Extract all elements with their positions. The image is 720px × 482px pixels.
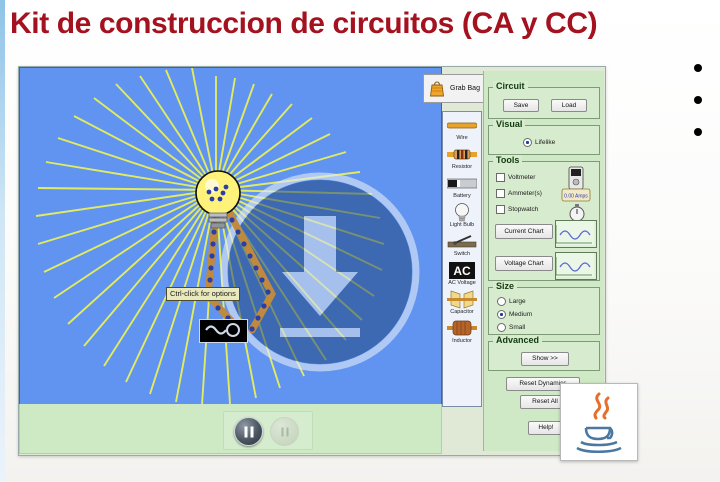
grab-bag-label: Grab Bag [450,85,480,92]
checkbox-icon [496,189,505,198]
palette-item-label: Wire [443,135,481,142]
light-bulb-icon [443,202,481,222]
size-small-radio[interactable]: Small [497,322,525,333]
ammeter-checkbox[interactable]: Ammeter(s) [496,188,542,199]
voltmeter-label: Voltmeter [508,174,535,181]
ac-voltage-icon: AC [443,260,481,280]
advanced-show-button[interactable]: Show >> [521,352,569,366]
size-medium-radio[interactable]: Medium [497,309,532,320]
palette-item-label: Light Bulb [443,222,481,229]
pause-button[interactable] [234,417,263,446]
capacitor-icon [443,289,481,309]
size-group: Size Large Medium Small [488,287,600,335]
radio-icon [497,323,506,332]
save-button[interactable]: Save [503,99,539,112]
stopwatch-label: Stopwatch [508,206,538,213]
circuit-group: Circuit Save Load [488,87,600,119]
switch-icon [443,231,481,251]
current-chart-thumbnail[interactable] [555,220,597,248]
palette-item-ac-voltage[interactable]: AC AC Voltage [443,260,481,287]
checkbox-icon [496,173,505,182]
radio-icon [523,138,532,147]
grab-bag-button[interactable]: Grab Bag [423,74,490,103]
size-large-radio[interactable]: Large [497,296,526,307]
advanced-group: Advanced Show >> [488,341,600,371]
checkbox-icon [496,205,505,214]
circuit-group-title: Circuit [493,81,528,92]
radio-icon [497,297,506,306]
list-item [694,64,702,72]
palette-item-label: AC Voltage [443,280,481,287]
palette-item-wire[interactable]: Wire [443,115,481,142]
component-palette: Wire Resistor [442,111,482,407]
palette-item-label: Inductor [443,338,481,345]
ammeter-icon: 0.00 Amps [561,188,591,202]
inductor-icon [443,318,481,338]
circuit-canvas[interactable]: Ctrl-click for options [19,67,442,406]
battery-icon [443,173,481,193]
size-large-label: Large [509,298,526,305]
palette-item-label: Capacitor [443,309,481,316]
radio-icon [497,310,506,319]
visual-lifelike-radio[interactable]: Lifelike [523,137,555,148]
slide-left-accent-rule [0,0,5,482]
palette-item-inductor[interactable]: Inductor [443,318,481,345]
palette-item-label: Resistor [443,164,481,171]
palette-item-label: Switch [443,251,481,258]
palette-item-label: Battery [443,193,481,200]
java-coffee-cup-icon [561,384,635,458]
pause-icon [244,426,253,437]
ammeter-label: Ammeter(s) [508,190,542,197]
tools-group-title: Tools [493,155,522,166]
tools-group: Tools Voltmeter Ammeter(s) Stopwatch Cur… [488,161,600,281]
palette-item-capacitor[interactable]: Capacitor [443,289,481,316]
page-title: Kit de construccion de circuitos (CA y C… [10,2,720,46]
list-item [694,96,702,104]
voltage-chart-thumbnail[interactable] [555,252,597,280]
bullet-list [694,64,720,160]
help-button[interactable]: Help! [528,421,564,435]
size-group-title: Size [493,281,517,292]
svg-text:0.00 Amps: 0.00 Amps [564,194,588,200]
visual-group: Visual Lifelike [488,125,600,155]
current-chart-button[interactable]: Current Chart [495,224,553,239]
bag-icon [427,79,447,99]
voltage-chart-button[interactable]: Voltage Chart [495,256,553,271]
light-bulb[interactable] [190,168,246,234]
size-small-label: Small [509,324,525,331]
wire-icon [443,115,481,135]
slide-canvas: Kit de construccion de circuitos (CA y C… [0,0,720,482]
advanced-group-title: Advanced [493,335,542,346]
canvas-tooltip: Ctrl-click for options [166,287,240,301]
voltmeter-checkbox[interactable]: Voltmeter [496,172,535,183]
playback-controls [223,411,313,450]
palette-item-switch[interactable]: Switch [443,231,481,258]
palette-item-light-bulb[interactable]: Light Bulb [443,202,481,229]
stopwatch-checkbox[interactable]: Stopwatch [496,204,538,215]
java-logo [560,383,638,461]
size-medium-label: Medium [509,311,532,318]
resistor-icon [443,144,481,164]
palette-item-resistor[interactable]: Resistor [443,144,481,171]
visual-group-title: Visual [493,119,525,130]
palette-item-battery[interactable]: Battery [443,173,481,200]
ac-voltage-icon [200,320,245,340]
step-icon [281,427,288,436]
step-button[interactable] [270,417,299,446]
ac-voltage-source[interactable] [199,319,248,343]
list-item [694,128,702,136]
voltmeter-icon [565,166,587,190]
circuit-construction-kit-applet: Ctrl-click for options [18,66,606,456]
load-button[interactable]: Load [551,99,587,112]
svg-text:AC: AC [453,264,471,278]
visual-lifelike-label: Lifelike [535,139,555,146]
